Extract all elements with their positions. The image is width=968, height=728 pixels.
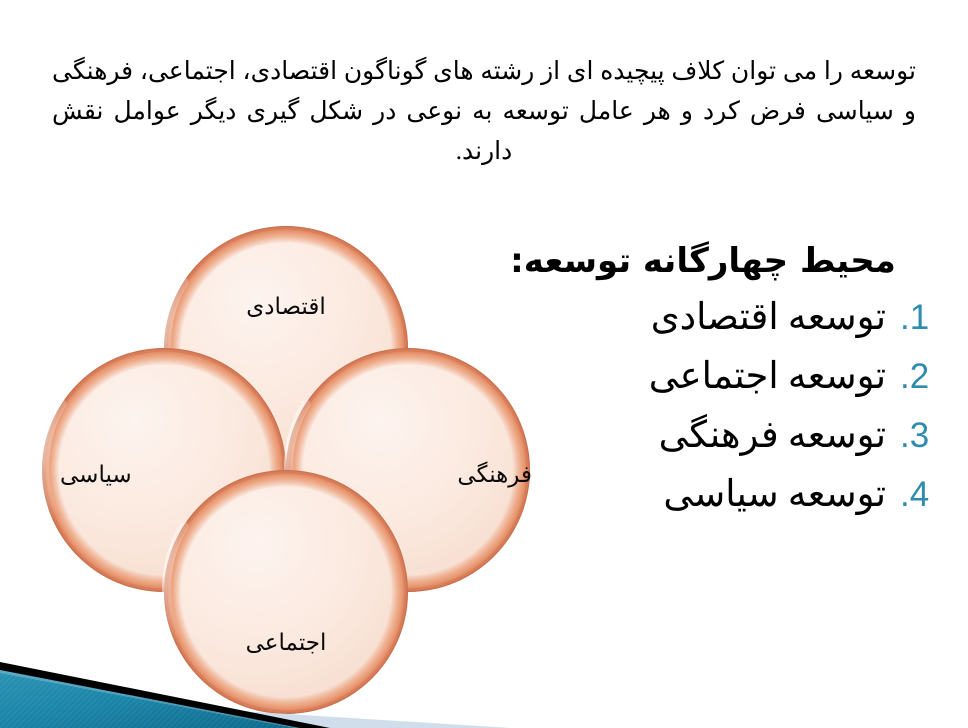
content-column: محیط چهارگانه توسعه: .1 توسعه اقتصادی .2… xyxy=(454,240,944,525)
list-item-number: .4 xyxy=(900,475,934,515)
list-item: .2 توسعه اجتماعی xyxy=(454,348,944,405)
list-item-label: توسعه اجتماعی xyxy=(649,348,886,405)
list-item: .1 توسعه اقتصادی xyxy=(454,289,944,346)
development-list: .1 توسعه اقتصادی .2 توسعه اجتماعی .3 توس… xyxy=(454,289,944,523)
list-item-label: توسعه سیاسی xyxy=(663,466,886,523)
intro-paragraph: توسعه را می توان کلاف پیچیده ای از رشته … xyxy=(52,52,916,172)
section-heading: محیط چهارگانه توسعه: xyxy=(454,240,944,283)
list-item: .3 توسعه فرهنگی xyxy=(454,407,944,464)
list-item: .4 توسعه سیاسی xyxy=(454,466,944,523)
list-item-number: .3 xyxy=(900,416,934,456)
list-item-label: توسعه اقتصادی xyxy=(651,289,886,346)
venn-circle-bottom xyxy=(164,470,408,714)
list-item-number: .1 xyxy=(900,298,934,338)
presentation-slide: توسعه را می توان کلاف پیچیده ای از رشته … xyxy=(0,0,968,728)
list-item-number: .2 xyxy=(900,357,934,397)
list-item-label: توسعه فرهنگی xyxy=(659,407,886,464)
